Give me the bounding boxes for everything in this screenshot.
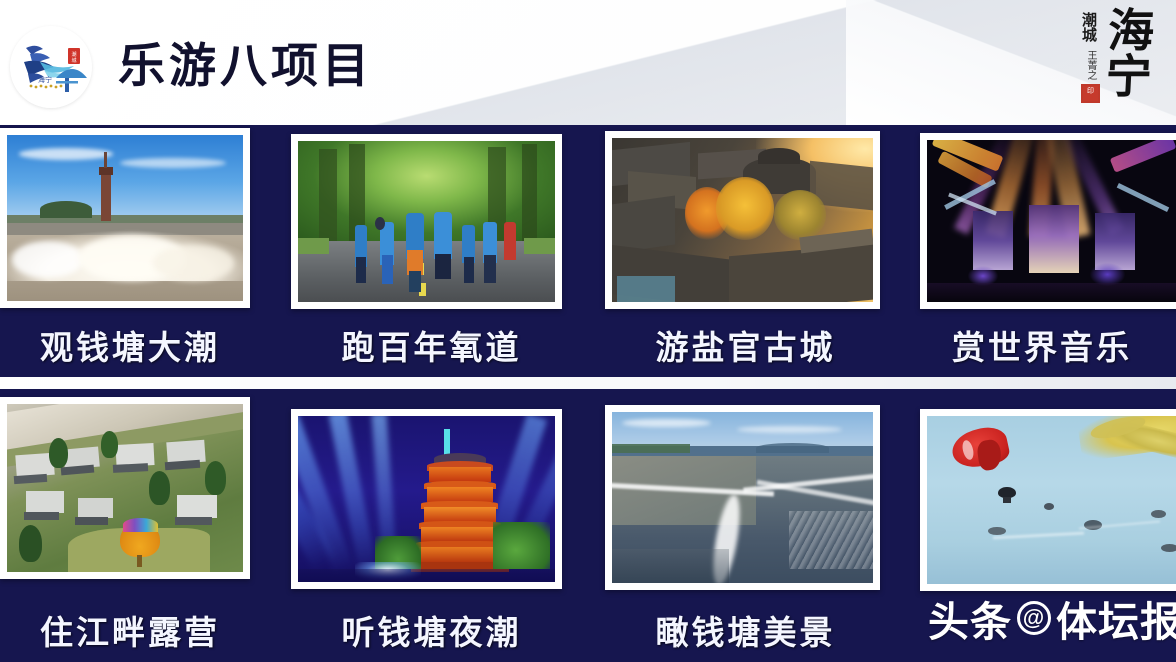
project-card-2[interactable]: 跑百年氧道 — [291, 125, 572, 377]
project-caption-4: 赏世界音乐 — [914, 321, 1170, 369]
project-photo-frame-3 — [605, 131, 880, 309]
photo-riverside-camping — [7, 404, 243, 572]
project-caption-6: 听钱塘夜潮 — [291, 606, 572, 654]
project-photo-frame-8 — [920, 409, 1176, 591]
photo-paragliding-water-sports — [927, 416, 1176, 584]
svg-text:海宁: 海宁 — [38, 75, 52, 84]
watermark-suffix: 体坛报 — [1056, 588, 1176, 648]
project-card-1[interactable]: 观钱塘大潮 — [0, 125, 260, 377]
photo-qiantang-river-aerial — [612, 412, 873, 583]
svg-text:潮: 潮 — [71, 51, 76, 58]
project-row-1: 观钱塘大潮 — [0, 125, 1176, 377]
project-photo-frame-6 — [291, 409, 562, 589]
row-divider-band — [0, 377, 1176, 389]
project-photo-frame-2 — [291, 134, 562, 309]
photo-runners-tree-road — [298, 141, 555, 302]
watermark-toutiao: 头条 @ 体坛报 — [928, 588, 1176, 648]
project-photo-frame-5 — [0, 397, 250, 579]
haining-tourism-logo: 潮 城 海宁 — [10, 26, 92, 108]
svg-text:城: 城 — [71, 57, 76, 64]
project-card-4[interactable]: 赏世界音乐 — [920, 125, 1176, 377]
calligraphy-signature: 王菁之 — [1085, 50, 1096, 80]
project-caption-5: 住江畔露营 — [0, 606, 260, 654]
page-header: 潮 城 海宁 乐游八项目 海宁 潮城 王菁之 印 — [0, 0, 1176, 125]
project-card-3[interactable]: 游盐官古城 — [605, 125, 886, 377]
project-photo-frame-7 — [605, 405, 880, 590]
project-card-6[interactable]: 听钱塘夜潮 — [291, 389, 572, 662]
project-caption-3: 游盐官古城 — [605, 321, 886, 369]
project-caption-2: 跑百年氧道 — [291, 321, 572, 369]
watermark-prefix: 头条 — [928, 588, 1012, 648]
project-photo-frame-4 — [920, 133, 1176, 309]
project-caption-7: 瞰钱塘美景 — [605, 606, 886, 654]
calligraphy-seal-icon: 印 — [1081, 84, 1100, 103]
watermark-at-icon: @ — [1017, 601, 1051, 635]
project-card-7[interactable]: 瞰钱塘美景 — [605, 389, 886, 662]
photo-yanguan-ancient-town — [612, 138, 873, 302]
photo-world-music-concert — [927, 140, 1176, 302]
calligraphy-main-text: 海宁 — [1098, 6, 1155, 98]
project-card-5[interactable]: 住江畔露营 — [0, 389, 260, 662]
project-caption-1: 观钱塘大潮 — [0, 321, 260, 369]
calligraphy-haining: 海宁 潮城 王菁之 印 — [1038, 4, 1158, 122]
photo-pagoda-night-lights — [298, 416, 555, 582]
page-title: 乐游八项目 — [118, 34, 373, 100]
calligraphy-sub-text: 潮城 — [1079, 12, 1096, 42]
photo-qiantang-tidal-bore — [7, 135, 243, 301]
project-photo-frame-1 — [0, 128, 250, 308]
